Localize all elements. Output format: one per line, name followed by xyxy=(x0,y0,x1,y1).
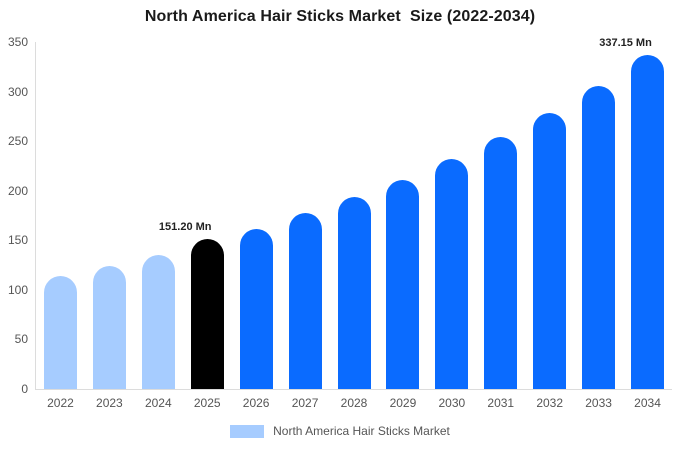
bar-2033[interactable] xyxy=(582,86,615,389)
chart-title: North America Hair Sticks Market Size (2… xyxy=(0,8,680,26)
x-axis-tick-label: 2027 xyxy=(292,396,319,410)
x-axis-tick-label: 2024 xyxy=(145,396,172,410)
x-axis-tick-label: 2032 xyxy=(536,396,563,410)
x-axis-tick-label: 2034 xyxy=(634,396,661,410)
x-axis-tick-label: 2026 xyxy=(243,396,270,410)
y-axis-tick-label: 150 xyxy=(0,233,28,247)
bar-value-label-2025: 151.20 Mn xyxy=(159,221,212,233)
y-axis-tick-label: 100 xyxy=(0,283,28,297)
x-axis-tick-label: 2033 xyxy=(585,396,612,410)
bar-2034[interactable] xyxy=(631,55,664,389)
y-axis-tick-label: 250 xyxy=(0,134,28,148)
bar-2025[interactable] xyxy=(191,239,224,389)
bar-value-label-2034: 337.15 Mn xyxy=(599,37,652,49)
x-axis-tick-label: 2031 xyxy=(487,396,514,410)
y-axis-tick-label: 300 xyxy=(0,85,28,99)
y-axis-tick-label: 0 xyxy=(0,382,28,396)
plot-area xyxy=(36,42,672,389)
bar-2027[interactable] xyxy=(289,213,322,389)
legend-label: North America Hair Sticks Market xyxy=(273,424,450,438)
bar-2028[interactable] xyxy=(338,197,371,389)
bar-2030[interactable] xyxy=(435,159,468,390)
bar-2023[interactable] xyxy=(93,266,126,389)
x-axis-tick-label: 2028 xyxy=(341,396,368,410)
x-axis-tick-label: 2023 xyxy=(96,396,123,410)
legend-color-swatch xyxy=(230,425,264,438)
y-axis-tick-label: 350 xyxy=(0,35,28,49)
x-axis-tick-label: 2022 xyxy=(47,396,74,410)
bar-2022[interactable] xyxy=(44,276,77,389)
bar-chart-canvas: North America Hair Sticks Market Size (2… xyxy=(0,0,680,450)
x-axis-tick-label: 2030 xyxy=(438,396,465,410)
bar-2026[interactable] xyxy=(240,229,273,389)
y-axis-tick-label: 200 xyxy=(0,184,28,198)
bar-2029[interactable] xyxy=(386,180,419,389)
x-axis-tick-label: 2029 xyxy=(390,396,417,410)
y-axis-tick-label: 50 xyxy=(0,332,28,346)
x-axis-line xyxy=(35,389,672,390)
bar-2031[interactable] xyxy=(484,137,517,389)
x-axis-tick-label: 2025 xyxy=(194,396,221,410)
chart-legend[interactable]: North America Hair Sticks Market xyxy=(0,424,680,438)
bar-2032[interactable] xyxy=(533,113,566,389)
bar-2024[interactable] xyxy=(142,255,175,389)
